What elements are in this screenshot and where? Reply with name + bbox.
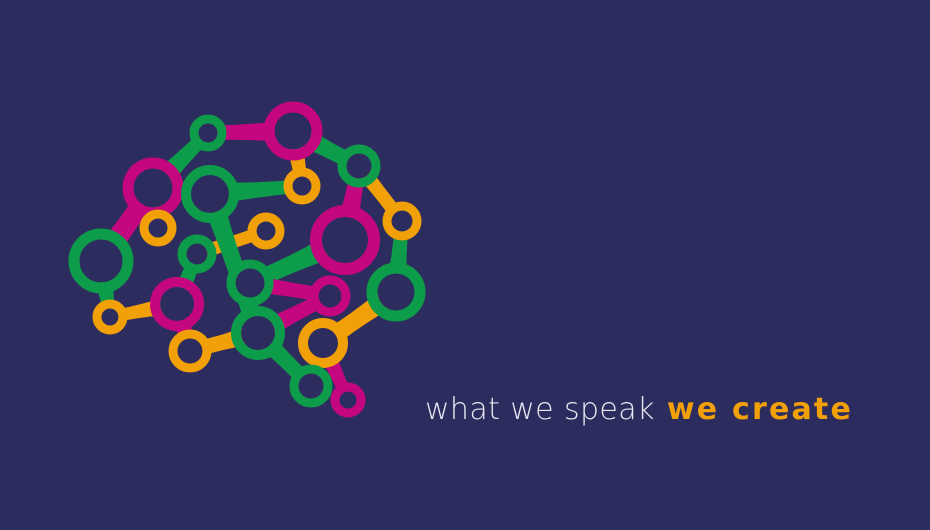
brain-node-hole — [293, 177, 312, 196]
tagline: what we speak we create — [425, 388, 853, 430]
brain-network-logo — [55, 95, 445, 440]
brain-node-hole — [319, 285, 342, 308]
brain-node-hole — [340, 392, 357, 409]
brain-node-hole — [241, 316, 275, 350]
brain-node-hole — [191, 175, 229, 213]
brain-node-hole — [178, 339, 203, 364]
brain-node-hole — [160, 287, 194, 321]
brain-node-hole — [236, 269, 265, 298]
brain-node-hole — [80, 240, 123, 283]
tagline-light-text: what we speak — [425, 392, 655, 427]
brain-node-hole — [322, 217, 368, 263]
brain-node-hole — [299, 374, 324, 399]
brain-node-hole — [347, 154, 372, 179]
brain-node-hole — [257, 222, 276, 241]
tagline-bold-text: we create — [667, 392, 853, 427]
node-layer — [74, 107, 420, 413]
brain-network-svg — [55, 95, 445, 440]
brain-node-hole — [308, 328, 338, 358]
brain-node-hole — [149, 219, 168, 238]
brain-node-hole — [187, 244, 208, 265]
brain-node-hole — [378, 274, 415, 311]
brain-node-hole — [392, 211, 413, 232]
brain-node-hole — [199, 124, 218, 143]
brain-node-hole — [102, 309, 119, 326]
brain-node-hole — [134, 169, 173, 208]
brain-node-hole — [275, 113, 312, 150]
poster-canvas: what we speak we create — [0, 0, 930, 530]
